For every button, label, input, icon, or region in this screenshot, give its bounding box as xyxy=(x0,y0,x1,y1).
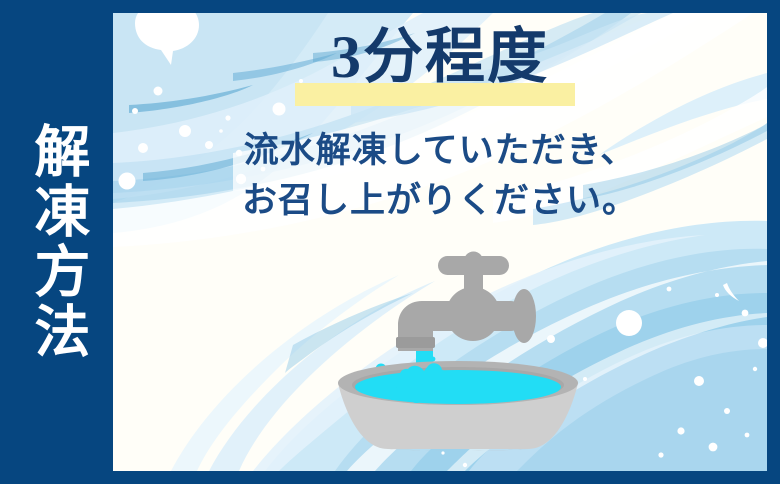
bowl-icon xyxy=(338,361,578,451)
faucet-spout-lip-icon xyxy=(396,337,435,348)
text-block: 3分程度 流水解凍していただき、 お召し上がりください。 xyxy=(113,13,767,243)
body-line-2: お召し上がりください。 xyxy=(113,176,767,226)
body-text: 流水解凍していただき、 お召し上がりください。 xyxy=(113,126,767,225)
vertical-title-text: 解凍方法 xyxy=(25,122,88,362)
faucet-bowl-graphic xyxy=(328,251,588,456)
faucet-bowl-illustration xyxy=(328,251,588,456)
content-panel: 3分程度 流水解凍していただき、 お召し上がりください。 xyxy=(113,13,767,471)
faucet-icon xyxy=(398,252,536,352)
vertical-title-panel: 解凍方法 xyxy=(0,0,113,484)
body-line-1: 流水解凍していただき、 xyxy=(113,126,767,176)
bowl-water-surface-icon xyxy=(355,370,561,404)
headline-text: 3分程度 xyxy=(113,27,767,87)
poster-root: 解凍方法 xyxy=(0,0,780,484)
